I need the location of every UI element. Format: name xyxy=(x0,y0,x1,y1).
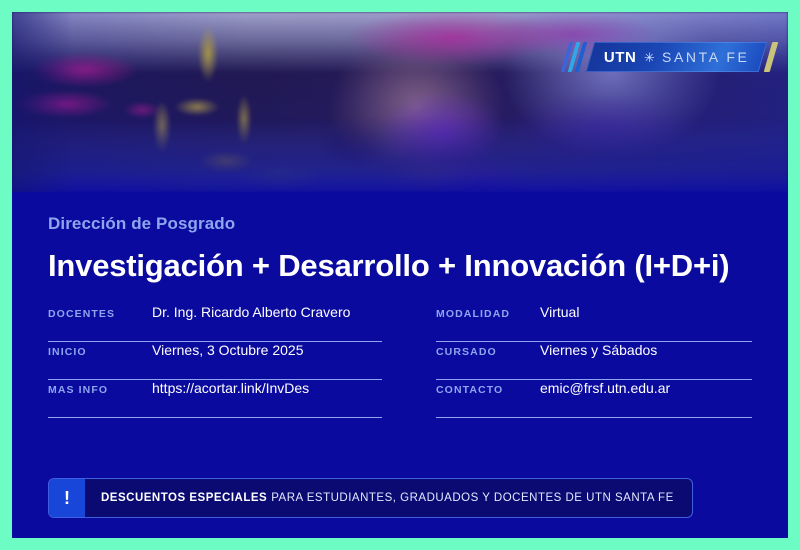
utn-santa-fe-logo: UTN ✳ SANTA FE xyxy=(565,40,774,74)
logo-plate: UTN ✳ SANTA FE xyxy=(586,42,768,72)
department-eyebrow: Dirección de Posgrado xyxy=(48,214,752,234)
info-label: INICIO xyxy=(48,346,152,358)
info-label: CONTACTO xyxy=(436,384,540,396)
page-title: Investigación + Desarrollo + Innovación … xyxy=(48,248,752,284)
info-label: CURSADO xyxy=(436,346,540,358)
exclamation-icon: ! xyxy=(49,479,85,517)
discount-banner-wrapper: ! DESCUENTOS ESPECIALES PARA ESTUDIANTES… xyxy=(48,478,693,518)
info-value-link[interactable]: https://acortar.link/InvDes xyxy=(152,380,309,396)
hero-photo xyxy=(12,12,788,192)
discount-banner: ! DESCUENTOS ESPECIALES PARA ESTUDIANTES… xyxy=(48,478,693,518)
info-value: Dr. Ing. Ricardo Alberto Cravero xyxy=(152,304,350,320)
info-label: MAS INFO xyxy=(48,384,152,396)
logo-utn-text: UTN xyxy=(604,49,637,66)
flyer-inner: UTN ✳ SANTA FE Dirección de Posgrado Inv… xyxy=(12,12,788,538)
info-row-cursado: CURSADO Viernes y Sábados xyxy=(436,342,752,380)
info-value: Virtual xyxy=(540,304,579,320)
info-value: Viernes, 3 Octubre 2025 xyxy=(152,342,304,358)
logo-slashes-icon xyxy=(565,42,586,72)
hero-banner: UTN ✳ SANTA FE xyxy=(12,12,788,192)
info-label: DOCENTES xyxy=(48,308,152,320)
sun-of-may-icon: ✳ xyxy=(644,51,655,64)
info-value: Viernes y Sábados xyxy=(540,342,657,358)
course-info-grid: DOCENTES Dr. Ing. Ricardo Alberto Craver… xyxy=(48,304,752,418)
info-row-modalidad: MODALIDAD Virtual xyxy=(436,304,752,342)
info-row-inicio: INICIO Viernes, 3 Octubre 2025 xyxy=(48,342,382,380)
logo-campus-text: SANTA FE xyxy=(662,49,749,65)
discount-banner-text: DESCUENTOS ESPECIALES PARA ESTUDIANTES, … xyxy=(85,479,692,517)
info-value-email[interactable]: emic@frsf.utn.edu.ar xyxy=(540,380,670,396)
info-label: MODALIDAD xyxy=(436,308,540,320)
discount-banner-strong: DESCUENTOS ESPECIALES xyxy=(101,492,267,504)
info-column-left: DOCENTES Dr. Ing. Ricardo Alberto Craver… xyxy=(48,304,400,418)
info-row-mas-info: MAS INFO https://acortar.link/InvDes xyxy=(48,380,382,418)
info-row-docentes: DOCENTES Dr. Ing. Ricardo Alberto Craver… xyxy=(48,304,382,342)
content-area: Dirección de Posgrado Investigación + De… xyxy=(12,192,788,538)
discount-banner-rest: PARA ESTUDIANTES, GRADUADOS Y DOCENTES D… xyxy=(271,492,674,504)
info-column-right: MODALIDAD Virtual CURSADO Viernes y Sába… xyxy=(400,304,752,418)
flyer: UTN ✳ SANTA FE Dirección de Posgrado Inv… xyxy=(0,0,800,550)
info-row-contacto: CONTACTO emic@frsf.utn.edu.ar xyxy=(436,380,752,418)
